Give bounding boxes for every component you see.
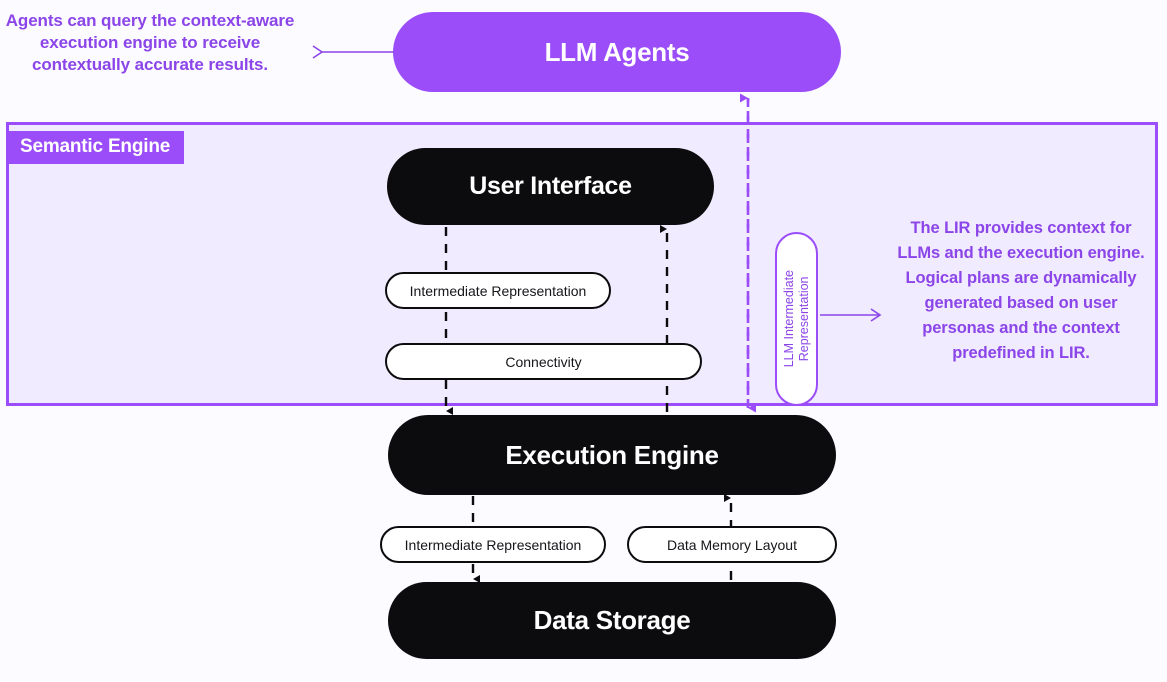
pill-connectivity-label: Connectivity	[505, 354, 581, 370]
pill-connectivity[interactable]: Connectivity	[385, 343, 702, 380]
pill-intermediate-representation-upper[interactable]: Intermediate Representation	[385, 272, 611, 309]
annotation-right: The LIR provides context for LLMs and th…	[896, 216, 1146, 366]
node-user-interface-label: User Interface	[469, 172, 632, 201]
pill-data-memory-layout[interactable]: Data Memory Layout	[627, 526, 837, 563]
node-user-interface[interactable]: User Interface	[387, 148, 714, 225]
node-execution-engine[interactable]: Execution Engine	[388, 415, 836, 495]
node-llm-agents[interactable]: LLM Agents	[393, 12, 841, 92]
pill-intermediate-representation-lower[interactable]: Intermediate Representation	[380, 526, 606, 563]
pill-data-memory-layout-label: Data Memory Layout	[667, 537, 797, 553]
node-execution-engine-label: Execution Engine	[505, 440, 718, 471]
node-llm-agents-label: LLM Agents	[545, 37, 690, 68]
semantic-engine-label: Semantic Engine	[6, 131, 184, 164]
semantic-engine-label-text: Semantic Engine	[20, 136, 170, 157]
node-data-storage-label: Data Storage	[534, 605, 691, 636]
pill-intermediate-representation-upper-label: Intermediate Representation	[410, 283, 587, 299]
annotation-left: Agents can query the context-aware execu…	[2, 10, 298, 76]
diagram-canvas: User Interface Execution Engine Data Sto…	[0, 0, 1167, 682]
pill-intermediate-representation-lower-label: Intermediate Representation	[405, 537, 582, 553]
pill-llm-intermediate-representation[interactable]: LLM Intermediate Representation	[775, 232, 818, 406]
node-data-storage[interactable]: Data Storage	[388, 582, 836, 659]
pill-llm-intermediate-representation-label: LLM Intermediate Representation	[782, 270, 812, 367]
